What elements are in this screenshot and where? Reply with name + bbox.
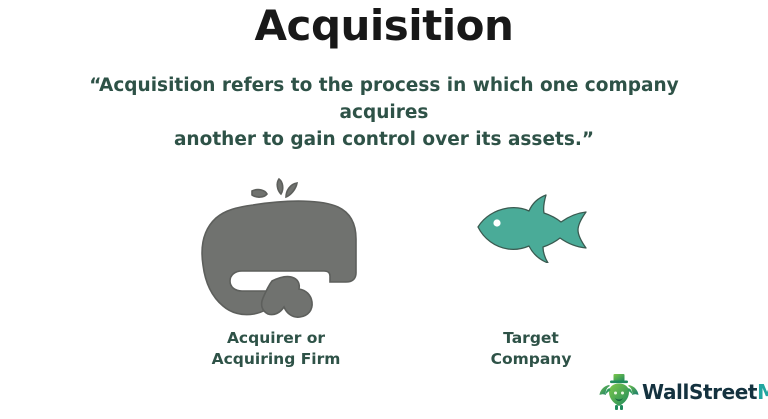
acquirer-caption-line-2: Acquiring Firm xyxy=(176,349,376,370)
acquirer-caption: Acquirer or Acquiring Firm xyxy=(176,328,376,370)
infographic-canvas: Acquisition “Acquisition refers to the p… xyxy=(0,0,768,419)
whale-spout-drop-right xyxy=(286,183,297,197)
whale-spout-drop-center xyxy=(277,179,282,194)
target-figure xyxy=(470,193,595,263)
logo-text-mojo: Mojo xyxy=(757,380,768,404)
whale-icon xyxy=(180,169,380,319)
whale-tail xyxy=(262,277,313,318)
wallstreetmojo-bull-mascot-icon xyxy=(598,372,640,412)
definition-text: “Acquisition refers to the process in wh… xyxy=(46,72,722,153)
definition-line-2: another to gain control over its assets.… xyxy=(46,126,722,153)
acquirer-caption-line-1: Acquirer or xyxy=(176,328,376,349)
acquirer-figure xyxy=(180,169,380,319)
fish-eye xyxy=(493,219,500,226)
definition-line-1: “Acquisition refers to the process in wh… xyxy=(46,72,722,126)
target-caption-line-2: Company xyxy=(458,349,604,370)
logo-text-wallstreet: WallStreet xyxy=(642,380,757,404)
fish-body xyxy=(478,195,586,263)
wallstreetmojo-logo: WallStreetMojo xyxy=(598,371,762,413)
whale-spout-drop-left xyxy=(252,190,267,198)
target-caption: Target Company xyxy=(458,328,604,370)
page-title: Acquisition xyxy=(0,2,768,50)
illustration-group xyxy=(0,165,768,325)
fish-icon xyxy=(470,193,595,263)
target-caption-line-1: Target xyxy=(458,328,604,349)
logo-wordmark: WallStreetMojo xyxy=(642,380,768,404)
